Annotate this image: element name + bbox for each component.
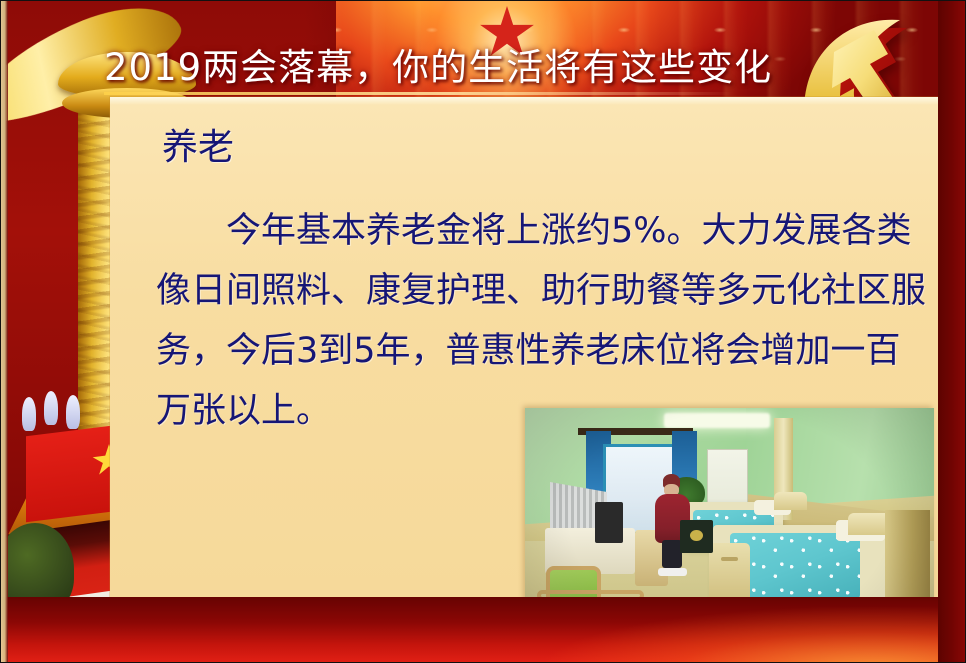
gate-lamps [22, 391, 92, 431]
section-heading: 养老 [162, 127, 234, 169]
title-underline [104, 92, 734, 95]
bottom-glow-decor [546, 607, 966, 663]
presentation-slide: 2019两会落幕，你的生活将有这些变化 养老 今年基本养老金将上涨约5%。大力发… [0, 0, 966, 663]
left-edge-strip [0, 0, 8, 663]
body-paragraph: 今年基本养老金将上涨约5%。大力发展各类像日间照料、康复护理、助行助餐等多元化社… [156, 201, 931, 441]
slide-title: 2019两会落幕，你的生活将有这些变化 [104, 46, 772, 90]
panel-top-highlight [110, 97, 938, 105]
right-red-strip [938, 0, 966, 663]
